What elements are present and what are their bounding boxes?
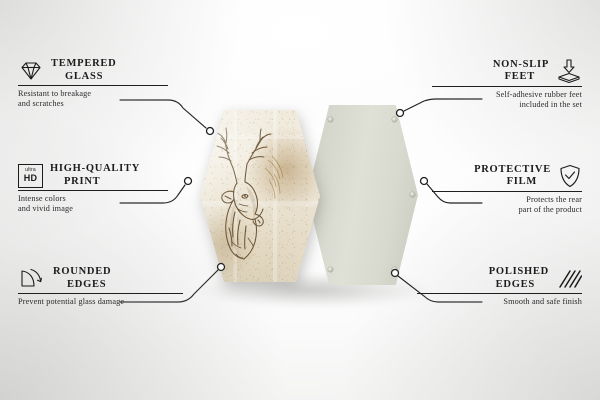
infographic-canvas: TEMPERED GLASS Resistant to breakage and… xyxy=(0,0,600,400)
feature-protective-film: PROTECTIVE FILM Protects the rear part o… xyxy=(432,163,582,215)
press-down-pad-icon xyxy=(556,58,582,84)
ultra-hd-badge-icon: ultra HD xyxy=(18,164,43,188)
feature-description: Smooth and safe finish xyxy=(417,297,582,307)
connector-node-high-quality-print xyxy=(185,178,192,185)
connector-node-protective-film xyxy=(421,178,428,185)
feature-high-quality-print: ultra HD HIGH-QUALITY PRINT Intense colo… xyxy=(18,163,168,214)
feature-title: TEMPERED GLASS xyxy=(51,58,117,83)
diagonal-lines-icon xyxy=(556,267,582,291)
feature-title: HIGH-QUALITY PRINT xyxy=(50,163,140,188)
feature-non-slip-feet: NON-SLIP FEET Self-adhesive rubber feet … xyxy=(432,58,582,110)
feature-divider xyxy=(18,85,168,86)
feature-divider xyxy=(417,293,582,294)
feature-divider xyxy=(18,190,168,191)
feature-tempered-glass: TEMPERED GLASS Resistant to breakage and… xyxy=(18,58,168,109)
feature-divider xyxy=(432,86,582,87)
connector-node-rounded-edges xyxy=(218,264,225,271)
feature-divider xyxy=(18,293,183,294)
feature-description: Intense colors and vivid image xyxy=(18,194,168,214)
feature-divider xyxy=(432,191,582,192)
feature-polished-edges: POLISHED EDGES Smooth and safe finish xyxy=(417,266,582,307)
connector-node-non-slip-feet xyxy=(397,110,404,117)
feature-title: ROUNDED EDGES xyxy=(53,266,111,291)
connector-node-polished-edges xyxy=(392,270,399,277)
diamond-icon xyxy=(18,60,44,82)
shield-check-icon xyxy=(558,163,582,189)
connector-node-tempered-glass xyxy=(207,128,214,135)
feature-description: Protects the rear part of the product xyxy=(432,195,582,215)
feature-title: POLISHED EDGES xyxy=(489,266,549,291)
feature-rounded-edges: ROUNDED EDGES Prevent potential glass da… xyxy=(18,266,183,307)
feature-description: Resistant to breakage and scratches xyxy=(18,89,168,109)
feature-description: Self-adhesive rubber feet included in th… xyxy=(432,90,582,110)
feature-title: NON-SLIP FEET xyxy=(493,59,549,84)
feature-description: Prevent potential glass damage xyxy=(18,297,183,307)
rounded-corner-arrow-icon xyxy=(18,267,46,291)
feature-title: PROTECTIVE FILM xyxy=(474,164,551,189)
